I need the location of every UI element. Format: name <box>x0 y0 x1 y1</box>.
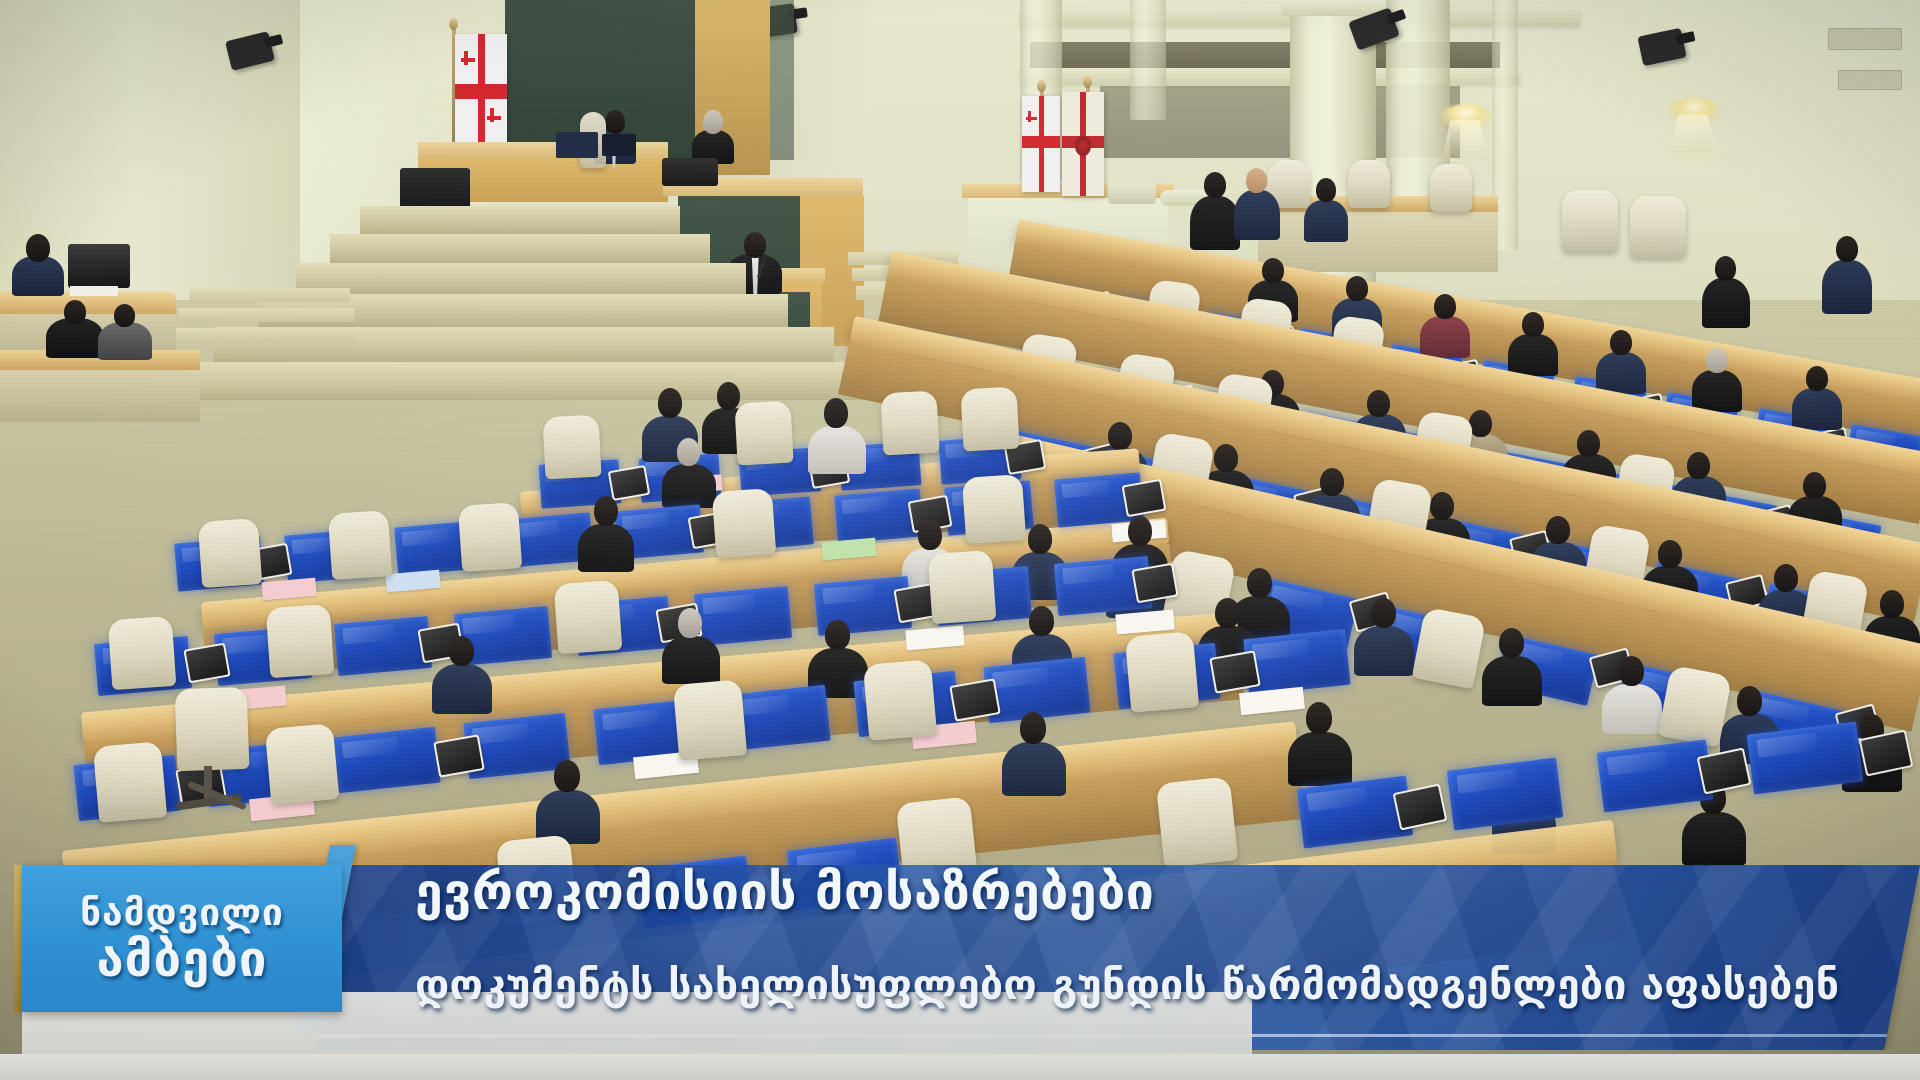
person-head <box>1546 516 1570 544</box>
speaker-head <box>744 232 766 258</box>
person-head <box>1658 540 1682 568</box>
person-head <box>1028 524 1052 554</box>
gallery-chair <box>1630 196 1686 258</box>
dais-step-face <box>330 251 710 263</box>
gallery-chair <box>1562 190 1618 252</box>
person-head <box>1214 444 1238 472</box>
member-chair <box>962 474 1026 544</box>
person-head <box>677 438 700 466</box>
person-head <box>1204 172 1226 198</box>
flag-emblem <box>1075 136 1091 156</box>
side-step <box>190 288 350 302</box>
person-torso <box>1482 656 1542 706</box>
member-chair <box>960 387 1019 452</box>
member-chair <box>266 604 335 678</box>
dais-step <box>170 362 890 384</box>
member-seated <box>430 636 492 712</box>
presidential-standard-flag <box>1062 92 1104 196</box>
member-chair <box>198 518 262 588</box>
flag-finial <box>1083 76 1092 88</box>
presidium-side-panel <box>770 0 794 160</box>
person-head <box>1108 422 1132 450</box>
person-head <box>658 388 682 418</box>
member-seated <box>1000 712 1066 794</box>
dais-monitor <box>602 134 636 156</box>
dais-step-face <box>170 384 890 400</box>
person-head <box>594 496 618 526</box>
person-head <box>1346 276 1368 301</box>
person-torso <box>1354 626 1414 676</box>
member-seated <box>576 496 634 568</box>
person-head <box>1128 516 1152 546</box>
left-box-papers <box>70 286 118 296</box>
member-chair <box>93 741 167 823</box>
person-torso <box>1304 200 1348 242</box>
flag-finial <box>1037 80 1046 92</box>
person-torso <box>1288 732 1352 786</box>
voting-tablet <box>1122 479 1167 517</box>
person-torso <box>578 524 634 572</box>
banner-bottom-line <box>0 1054 1920 1080</box>
person-head <box>605 110 625 134</box>
person-head <box>1715 256 1736 281</box>
gallery-person <box>1232 168 1280 240</box>
member-seated <box>1418 294 1470 356</box>
desk-monitor <box>333 727 440 793</box>
person-head <box>1367 390 1390 417</box>
side-step <box>178 308 354 322</box>
member-chair <box>880 391 939 456</box>
person-torso <box>662 636 720 684</box>
member-chair <box>108 616 177 690</box>
member-seated <box>1506 312 1558 374</box>
member-seated <box>806 398 866 472</box>
person-torso <box>662 464 716 508</box>
person-torso <box>1792 388 1842 430</box>
member-chair <box>265 723 339 805</box>
banner-text-block: ევროკომისიის მოსაზრებები დოკუმენტს სახელ… <box>415 867 1895 1037</box>
member-chair <box>863 659 937 741</box>
column <box>1130 0 1166 120</box>
flag-small-cross <box>461 58 475 62</box>
person-head <box>1029 606 1054 636</box>
wall-vent <box>1828 28 1902 50</box>
dais-step-face <box>296 281 746 294</box>
member-seated <box>660 438 716 506</box>
person-head <box>1522 312 1544 337</box>
person-torso <box>1420 316 1470 358</box>
member-seated <box>660 608 720 682</box>
person-torso <box>1692 370 1742 412</box>
dais-step <box>330 234 710 251</box>
member-chair <box>1125 631 1199 713</box>
flag-small-cross <box>1026 117 1037 120</box>
member-chair <box>673 679 747 761</box>
person-head <box>1371 598 1396 628</box>
person-head <box>1687 452 1710 479</box>
member-chair <box>554 580 623 654</box>
person-head <box>678 608 702 638</box>
dais-step-face <box>214 347 834 362</box>
person-torso <box>1822 260 1872 314</box>
person-head <box>1320 468 1344 496</box>
flag-cross-horizontal <box>455 84 507 98</box>
voting-tablet <box>183 643 230 684</box>
dais-person <box>690 108 734 160</box>
left-box-person <box>96 304 152 358</box>
member-seated <box>1594 330 1646 392</box>
person-head <box>1737 686 1762 716</box>
member-seated <box>1480 628 1542 704</box>
person-torso <box>1596 352 1646 394</box>
person-head <box>554 760 580 792</box>
pedestal-objects <box>1108 182 1156 204</box>
member-chair <box>542 415 601 480</box>
gallery-person <box>1302 178 1348 242</box>
dais-step <box>296 263 746 281</box>
person-head <box>1434 294 1456 319</box>
person-head <box>1469 410 1492 437</box>
flag-cross-horizontal <box>1022 136 1060 148</box>
person-head <box>918 520 942 550</box>
person-head <box>1577 430 1600 457</box>
floor-chair <box>175 687 250 771</box>
member-seated <box>1352 598 1414 674</box>
member-seated <box>1790 366 1842 428</box>
person-head <box>449 636 474 666</box>
channel-logo-box: ნამდვილი ამბები <box>22 865 342 1012</box>
person-head <box>717 382 740 410</box>
channel-logo-line-2: ამბები <box>97 935 268 984</box>
voting-tablet <box>1131 563 1178 604</box>
person-torso <box>98 322 152 360</box>
person-head <box>1706 348 1728 373</box>
dais-equipment <box>662 158 718 186</box>
person-head <box>703 110 723 134</box>
flag-small-cross <box>487 116 501 120</box>
member-chair <box>328 510 392 580</box>
georgian-flag <box>1022 96 1060 192</box>
left-box-person <box>44 300 104 356</box>
person-head <box>1020 712 1046 744</box>
person-head <box>1803 472 1826 499</box>
channel-logo-line-1: ნამდვილი <box>80 894 284 931</box>
dais-step <box>360 206 680 222</box>
gallery-chair <box>1430 164 1472 212</box>
person-torso <box>1702 278 1750 328</box>
person-torso <box>1602 684 1662 734</box>
side-step <box>166 328 356 342</box>
person-torso <box>1234 190 1280 240</box>
person-head <box>1880 590 1904 618</box>
broadcast-screenshot: ნამდვილი ამბები ევროკომისიის მოსაზრებები… <box>0 0 1920 1080</box>
member-seated <box>1600 656 1662 732</box>
person-head <box>825 620 850 650</box>
desk-monitor <box>334 616 432 676</box>
gallery-person <box>1700 256 1750 328</box>
person-head <box>824 398 848 428</box>
flag-finial <box>449 18 458 30</box>
person-head <box>26 234 50 262</box>
person-head <box>1619 656 1644 686</box>
person-torso <box>1002 742 1066 796</box>
person-head <box>1306 702 1332 734</box>
person-head <box>1610 330 1632 355</box>
person-torso <box>1508 334 1558 376</box>
georgian-flag <box>455 34 507 154</box>
member-chair <box>734 401 793 466</box>
member-seated <box>534 760 600 842</box>
left-box-person <box>10 230 66 292</box>
person-torso <box>12 256 64 296</box>
person-head <box>1430 492 1454 520</box>
person-head <box>1246 168 1267 193</box>
member-seated <box>1286 702 1352 784</box>
lower-third-banner: ნამდვილი ამბები ევროკომისიის მოსაზრებები… <box>0 845 1920 1080</box>
person-head <box>1499 628 1524 658</box>
person-head <box>1262 258 1284 283</box>
member-chair <box>928 550 997 624</box>
member-seated <box>1690 348 1742 410</box>
person-torso <box>808 426 866 474</box>
banner-headline: ევროკომისიის მოსაზრებები <box>415 867 1895 918</box>
person-head <box>1215 598 1240 628</box>
gallery-person <box>1820 236 1872 314</box>
gallery-chair <box>1348 160 1390 208</box>
person-head <box>1836 236 1858 262</box>
wall-vent <box>1838 70 1902 90</box>
banner-subline: დოკუმენტს სახელისუფლებო გუნდის წარმომადგ… <box>415 964 1895 1007</box>
column-capital <box>1282 0 1384 16</box>
person-head <box>114 304 135 327</box>
member-chair <box>458 502 522 572</box>
dais-monitor <box>556 132 598 158</box>
person-head <box>1247 568 1272 598</box>
person-head <box>1316 178 1336 202</box>
left-box-monitor <box>68 244 130 288</box>
left-box-panel-2 <box>0 370 200 422</box>
person-head <box>1806 366 1828 391</box>
person-torso <box>432 664 492 714</box>
dais-step-face <box>360 222 680 234</box>
member-chair <box>712 488 776 558</box>
person-head <box>64 300 86 324</box>
person-head <box>1774 564 1798 592</box>
